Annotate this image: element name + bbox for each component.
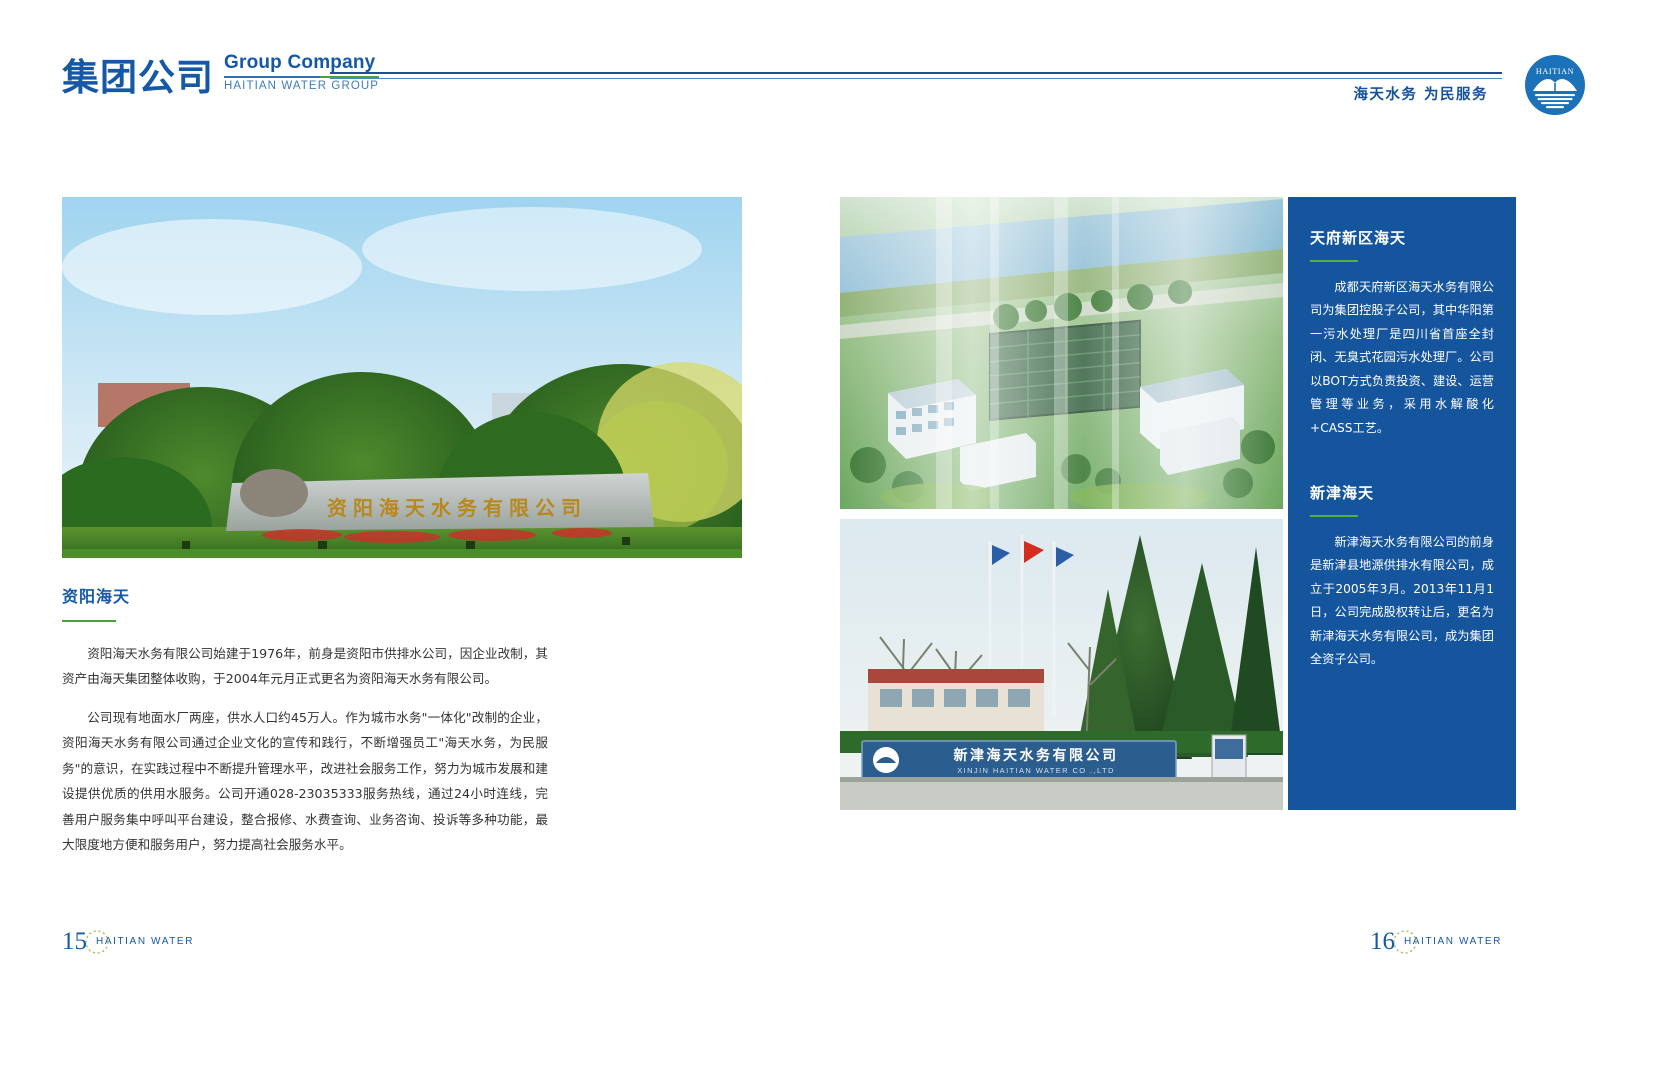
laurel-ring-icon — [1392, 929, 1418, 955]
paragraph: 公司现有地面水厂两座，供水人口约45万人。作为城市水务"一体化"改制的企业，资阳… — [62, 705, 548, 858]
header-horizontal-rule — [330, 72, 1502, 79]
brochure-spread: 集团公司 Group Company HAITIAN WATER GROUP 海… — [0, 0, 1678, 1087]
xinjin-section: 新津海天 新津海天水务有限公司的前身是新津县地源供排水有限公司，成立于2005年… — [1288, 440, 1516, 672]
footer-left-label-wrap: HAITIAN WATER — [96, 936, 194, 947]
svg-text:新津海天水务有限公司: 新津海天水务有限公司 — [954, 747, 1119, 764]
page-header: 集团公司 Group Company HAITIAN WATER GROUP 海… — [0, 0, 1678, 140]
footer-right-label-wrap: HAITIAN WATER — [1404, 936, 1502, 947]
ziyang-entrance-photo: 资阳海天水务有限公司 — [62, 197, 742, 558]
tianfu-section-heading: 天府新区海天 — [1310, 227, 1494, 248]
right-info-panel: 天府新区海天 成都天府新区海天水务有限公司为集团控股子公司，其中华阳第一污水处理… — [1288, 197, 1516, 810]
header-tagline: 海天水务 为民服务 — [1353, 83, 1488, 104]
ziyang-section-rule — [62, 620, 116, 622]
aerial-wastewater-plant-photo — [840, 197, 1283, 509]
laurel-ring-icon — [84, 929, 110, 955]
footer-right-label: HAITIAN WATER — [1404, 936, 1502, 947]
tianfu-section-rule — [1310, 260, 1358, 262]
svg-text:HAITIAN: HAITIAN — [1536, 67, 1574, 76]
footer-left-page: 15 HAITIAN WATER — [62, 929, 194, 954]
footer-left-label: HAITIAN WATER — [96, 936, 194, 947]
ziyang-section-heading: 资阳海天 — [62, 583, 548, 607]
svg-text:资阳海天水务有限公司: 资阳海天水务有限公司 — [327, 496, 587, 520]
tianfu-section-body: 成都天府新区海天水务有限公司为集团控股子公司，其中华阳第一污水处理厂是四川省首座… — [1310, 276, 1494, 440]
brand-subtitle-en: HAITIAN WATER GROUP — [224, 80, 379, 94]
paragraph: 资阳海天水务有限公司始建于1976年，前身是资阳市供排水公司，因企业改制，其资产… — [62, 641, 548, 692]
svg-text:XINJIN HAITIAN WATER CO .,LTD: XINJIN HAITIAN WATER CO .,LTD — [957, 766, 1115, 775]
ziyang-section-body: 资阳海天水务有限公司始建于1976年，前身是资阳市供排水公司，因企业改制，其资产… — [62, 641, 548, 858]
ziyang-section: 资阳海天 资阳海天水务有限公司始建于1976年，前身是资阳市供排水公司，因企业改… — [62, 583, 548, 871]
tianfu-section: 天府新区海天 成都天府新区海天水务有限公司为集团控股子公司，其中华阳第一污水处理… — [1288, 197, 1516, 440]
xinjin-section-rule — [1310, 515, 1358, 517]
xinjin-entrance-photo: 新津海天水务有限公司 XINJIN HAITIAN WATER CO .,LTD — [840, 519, 1283, 810]
xinjin-section-body: 新津海天水务有限公司的前身是新津县地源供排水有限公司，成立于2005年3月。20… — [1310, 531, 1494, 672]
footer-right-page: 16 HAITIAN WATER — [1370, 929, 1502, 954]
xinjin-section-heading: 新津海天 — [1310, 482, 1494, 503]
haitian-circular-logo-icon: HAITIAN — [1524, 54, 1586, 116]
brand-name-cn: 集团公司 — [62, 59, 214, 96]
brand-name-en: Group Company — [224, 52, 379, 74]
